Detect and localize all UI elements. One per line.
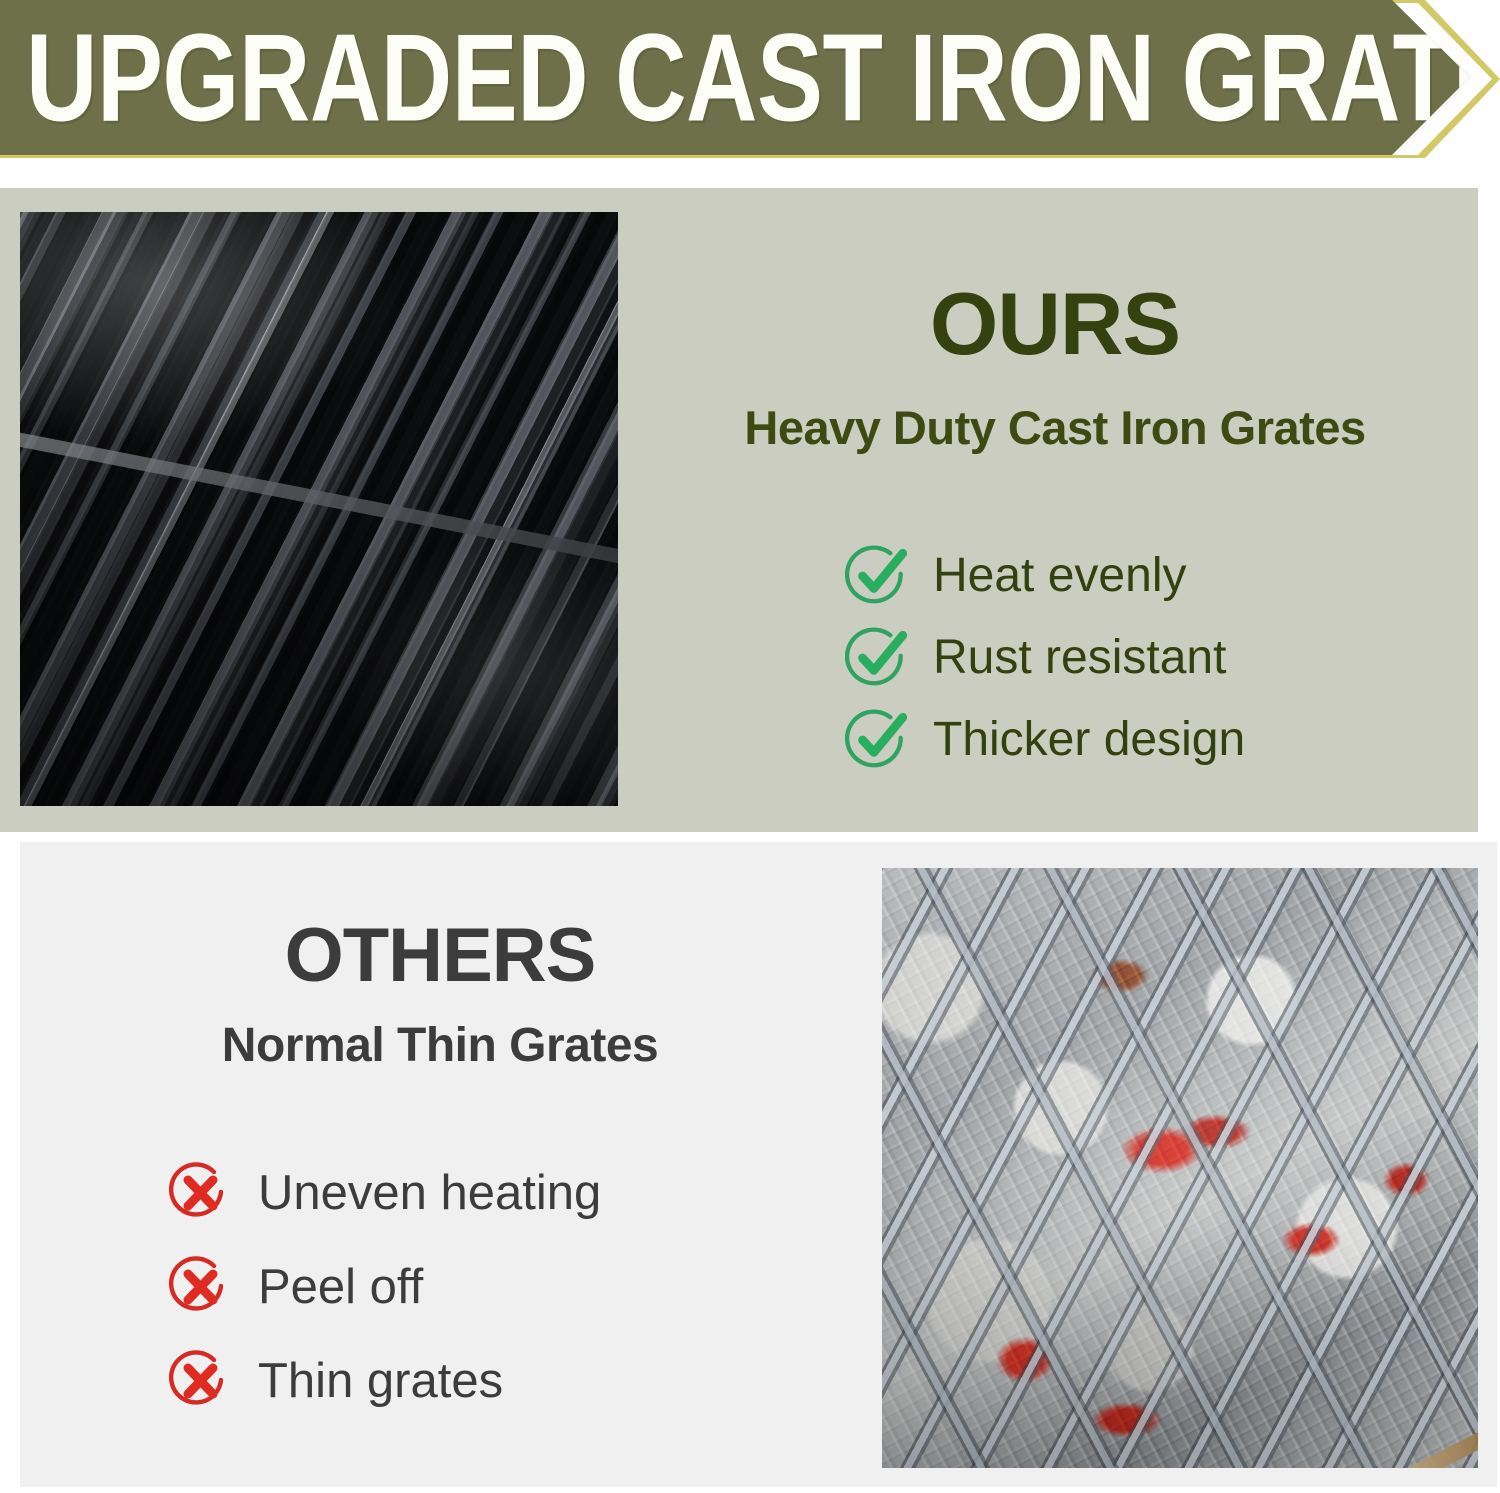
charcoal-vignette [882,868,1478,1468]
check-circle-icon [845,625,911,691]
others-product-image [882,868,1478,1468]
list-item-label: Rust resistant [933,634,1226,682]
x-circle-icon [168,1255,232,1319]
ours-heading: OURS [640,280,1470,368]
x-circle-icon [168,1161,232,1225]
cast-iron-grates-photo [20,212,618,806]
x-circle-icon [168,1349,232,1413]
others-heading: OTHERS [60,918,820,994]
list-item-label: Thin grates [258,1357,503,1406]
others-subheading: Normal Thin Grates [60,1022,820,1070]
list-item: Peel off [168,1246,601,1328]
thin-wire-grate-charcoal-photo [882,868,1478,1468]
others-drawback-list: Uneven heating Peel off Thin grates [168,1152,601,1434]
header-banner: UPGRADED CAST IRON GRATES [0,0,1500,158]
list-item: Uneven heating [168,1152,601,1234]
page-title: UPGRADED CAST IRON GRATES [26,15,1500,139]
list-item-label: Heat evenly [933,552,1186,600]
list-item-label: Uneven heating [258,1169,601,1218]
ours-subheading: Heavy Duty Cast Iron Grates [640,404,1470,451]
iron-sheen-layer [20,212,618,806]
check-circle-icon [845,543,911,609]
ours-product-image [20,212,618,806]
list-item-label: Thicker design [933,716,1245,764]
check-circle-icon [845,707,911,773]
ours-text-block: OURS Heavy Duty Cast Iron Grates [640,280,1470,451]
list-item: Heat evenly [845,536,1245,616]
list-item: Thicker design [845,700,1245,780]
list-item: Rust resistant [845,618,1245,698]
ours-feature-list: Heat evenly Rust resistant Thicker desig… [845,536,1245,782]
list-item: Thin grates [168,1340,601,1422]
list-item-label: Peel off [258,1263,423,1312]
banner-arrow-shape: UPGRADED CAST IRON GRATES [0,0,1470,155]
others-text-block: OTHERS Normal Thin Grates [60,918,820,1070]
